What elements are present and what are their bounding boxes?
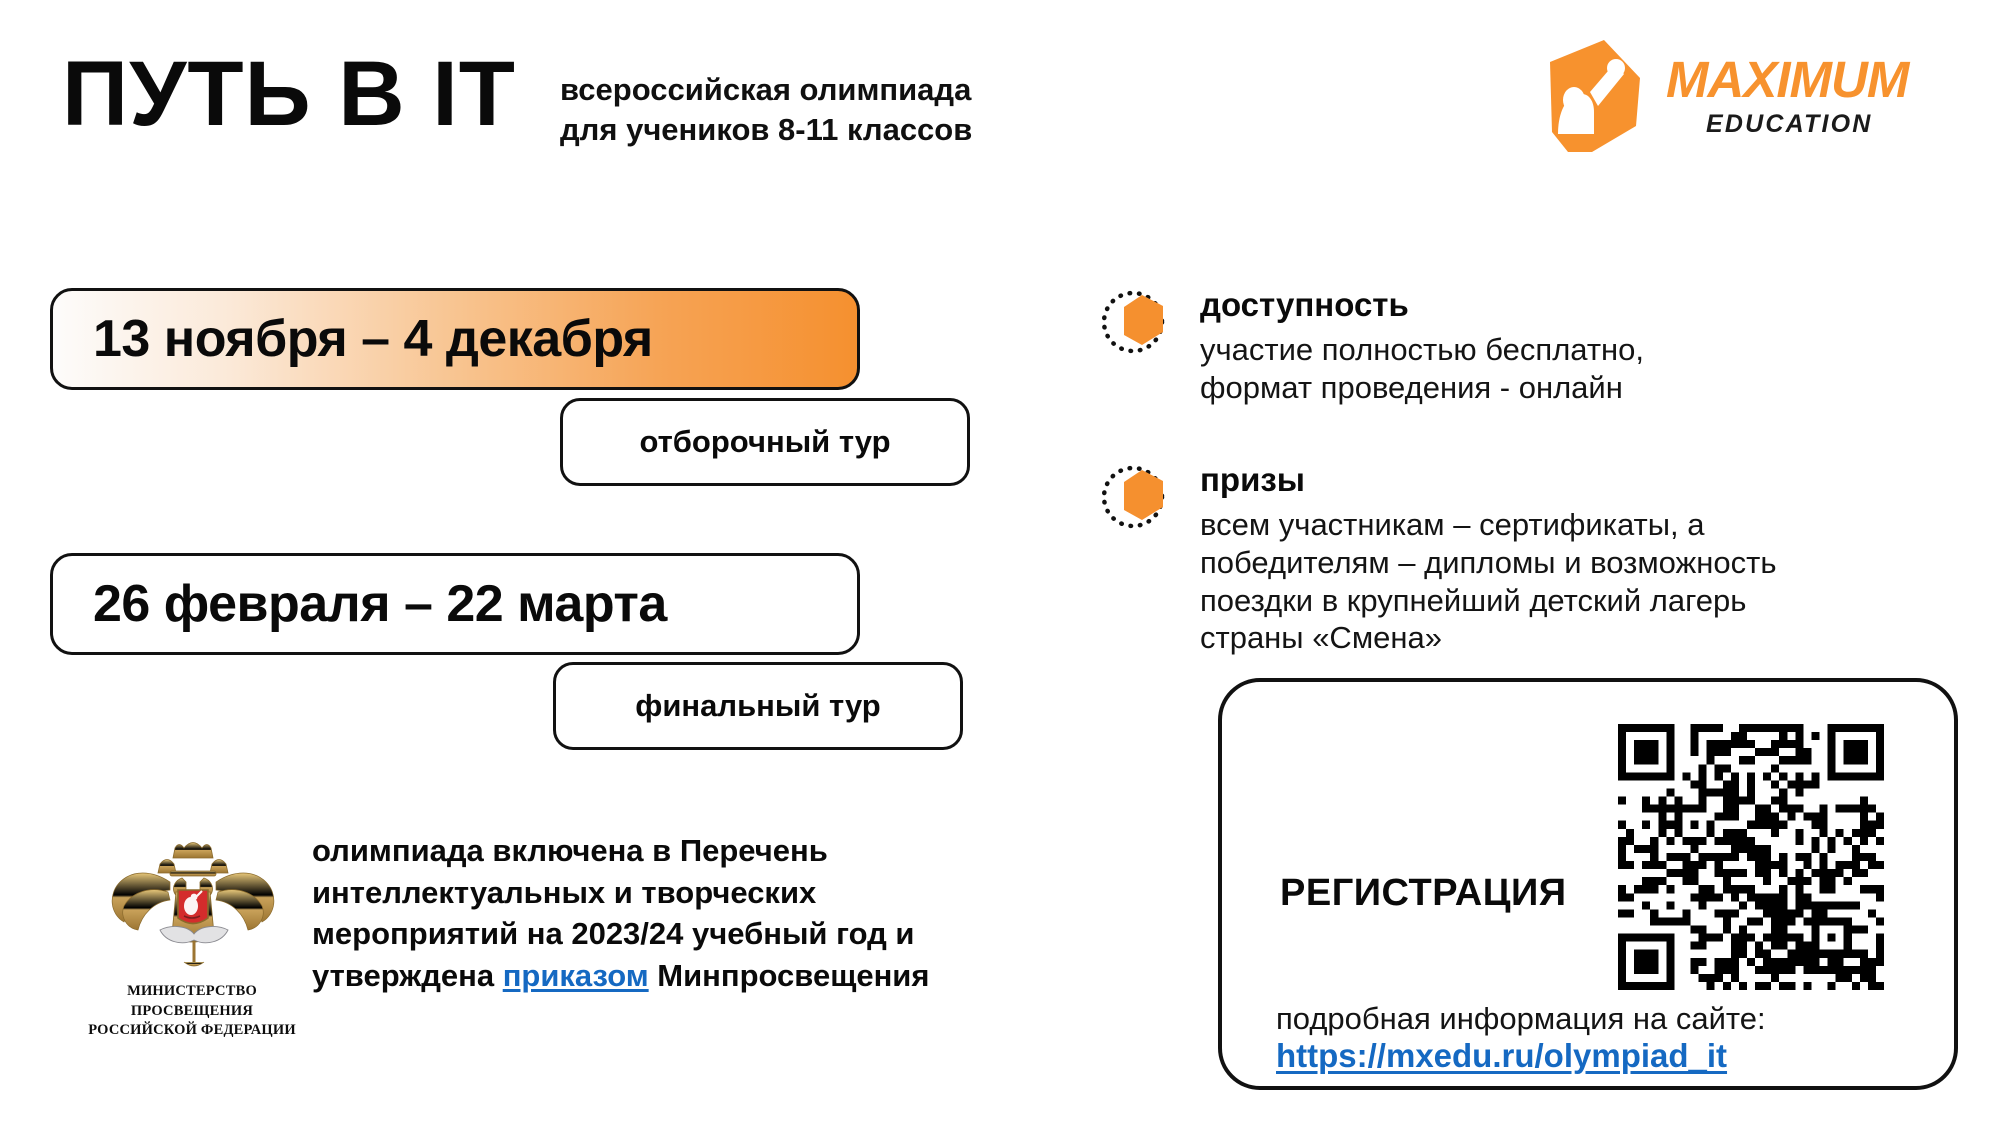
feature-title: доступность xyxy=(1200,286,1409,324)
russian-double-headed-eagle-icon xyxy=(98,830,288,980)
ministry-caption-line-2: РОССИЙСКОЙ ФЕДЕРАЦИИ xyxy=(72,1021,312,1041)
orange-hexagon-dotted-icon xyxy=(1100,283,1178,361)
logo-tagline: EDUCATION xyxy=(1706,112,1873,137)
registration-info: подробная информация на сайте: xyxy=(1276,1000,1766,1038)
logo-wordmark: MAXIMUM xyxy=(1666,54,1908,105)
poster-root: ПУТЬ В IT всероссийская олимпиада для уч… xyxy=(0,0,2000,1125)
orange-hexagon-dotted-icon xyxy=(1100,458,1178,536)
registration-url-link[interactable]: https://mxedu.ru/olympiad_it xyxy=(1276,1037,1727,1075)
tour-label-final: финальный тур xyxy=(553,662,963,750)
feature-body: всем участникам – сертификаты, а победит… xyxy=(1200,506,1777,657)
maximum-education-logo: MAXIMUM EDUCATION xyxy=(1528,34,1958,154)
page-subtitle: всероссийская олимпиада для учеников 8-1… xyxy=(560,70,972,149)
page-title: ПУТЬ В IT xyxy=(62,48,516,140)
ministry-caption: МИНИСТЕРСТВО ПРОСВЕЩЕНИЯ РОССИЙСКОЙ ФЕДЕ… xyxy=(72,982,312,1041)
registration-card: РЕГИСТРАЦИЯ подробная информация на сайт… xyxy=(1218,678,1958,1090)
subtitle-line-2: для учеников 8-11 классов xyxy=(560,110,972,150)
qr-code-icon[interactable] xyxy=(1618,724,1884,990)
ministry-statement: олимпиада включена в Перечень интеллекту… xyxy=(312,830,992,996)
schedule-dates: 13 ноября – 4 декабря xyxy=(53,309,653,369)
schedule-dates: 26 февраля – 22 марта xyxy=(53,574,667,634)
tour-label-qualifying: отборочный тур xyxy=(560,398,970,486)
maximum-hexagon-person-icon xyxy=(1528,34,1658,154)
order-link[interactable]: приказом xyxy=(503,958,649,993)
feature-title: призы xyxy=(1200,461,1305,499)
schedule-card-qualifying: 13 ноября – 4 декабря xyxy=(50,288,860,390)
subtitle-line-1: всероссийская олимпиада xyxy=(560,70,972,110)
feature-body: участие полностью бесплатно, формат пров… xyxy=(1200,331,1644,407)
ministry-caption-line-1: МИНИСТЕРСТВО ПРОСВЕЩЕНИЯ xyxy=(72,982,312,1021)
schedule-card-final: 26 февраля – 22 марта xyxy=(50,553,860,655)
ministry-endorsement: МИНИСТЕРСТВО ПРОСВЕЩЕНИЯ РОССИЙСКОЙ ФЕДЕ… xyxy=(90,830,1050,1060)
registration-title: РЕГИСТРАЦИЯ xyxy=(1280,872,1567,915)
ministry-statement-part-2: Минпросвещения xyxy=(649,958,930,993)
